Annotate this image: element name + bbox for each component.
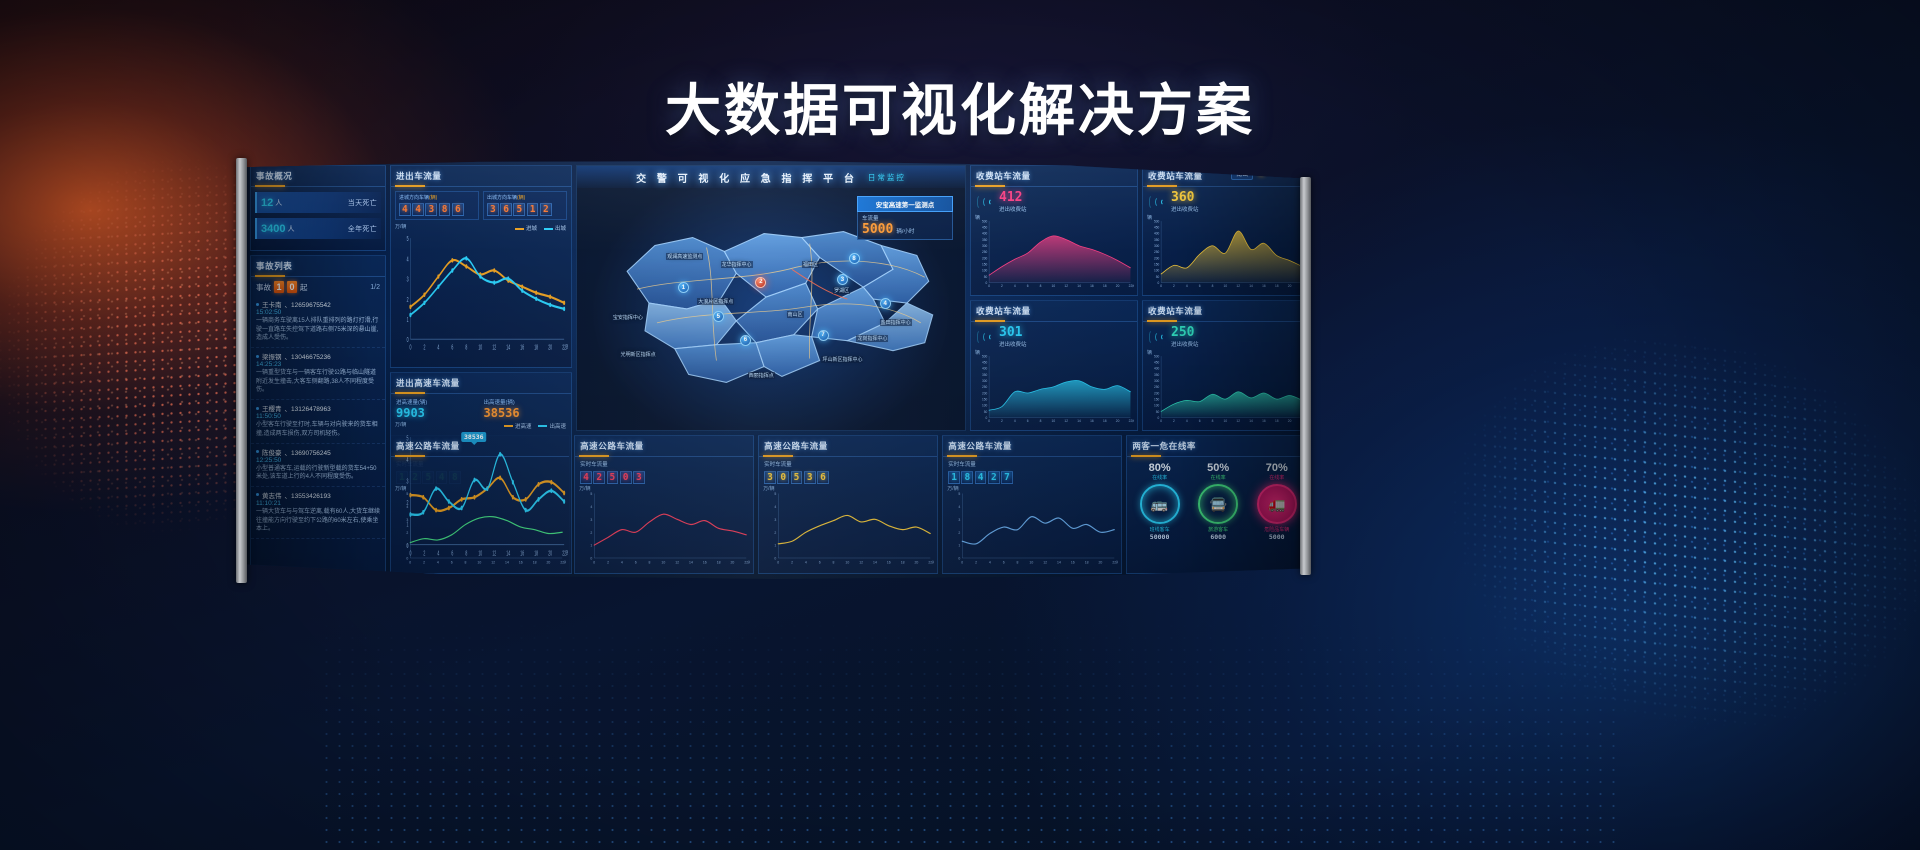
toll-title: 收费站车流量 [971,166,1137,187]
risk-item[interactable]: 80% 在线率 🚌 班线客车 50000 [1131,462,1189,541]
toll-value: 250 [1171,326,1199,339]
map-callout-body: 车流量 5000 辆/小时 [857,212,953,240]
svg-text:4: 4 [590,505,592,509]
svg-text:3: 3 [406,518,408,522]
accident-description: 一辆大货车与与驾车逆离,载有60人,大货车继续往撞能方向行驶至约下公路的60米左… [256,508,380,534]
metric-label: 出高速量(辆) [484,398,567,406]
in-out-flow-chart[interactable]: 万/辆 进城 出城 5432100246810121416182022时 [391,222,571,367]
accident-description: 一辆重型货车与一辆客车行驶公路与临山隧道附近发生撞击,大客车侧翻路,38人不同程… [256,369,380,395]
in-out-flow-panel: 进出车流量 进城方向车辆(辆) 44386 出城方向车辆(辆) 36512 [390,165,572,368]
svg-text:50: 50 [984,410,988,414]
accident-list-item[interactable]: 黄志伟、1355342619311:10:21一辆大货车与与驾车逆离,载有60人… [251,487,385,539]
svg-text:0: 0 [1158,416,1160,420]
svg-text:12: 12 [1064,419,1068,423]
svg-text:18: 18 [1275,419,1279,423]
svg-text:300: 300 [1154,379,1160,383]
svg-text:2: 2 [590,531,592,535]
accident-list-item[interactable]: 陈俊豪、1369075624512:25:50小型普通客车,运载的行驶新型载的货… [251,444,385,487]
svg-text:时: 时 [932,559,934,564]
accident-reporter: 梁振钢 [262,351,282,361]
signal-wave-icon [977,329,995,345]
highway-panel-4: 高速公路车流量 实时车流量 18427 万/辆 5432100246810121… [942,435,1122,574]
svg-text:150: 150 [982,262,988,266]
accident-list-item[interactable]: 王卡南、1265967554215:02:50一辆商务车驶离15人排队重排列的路… [251,296,385,348]
svg-text:0: 0 [409,345,411,353]
map-place-label: 大浪片区指挥点 [697,298,734,305]
accident-overview-panel: 事故概况 12 人 当天死亡 3400 人 全年死亡 [250,165,386,251]
highway-panel-1: 高速公路车流量 实时车流量 12548 万/辆 5432100246810121… [390,435,570,574]
accident-count-unit: 起 [300,282,308,293]
poster-stage: 大数据可视化解决方案 南山 2018-0 事故概况 12 人 [0,0,1920,850]
svg-text:2: 2 [607,560,609,564]
svg-text:时: 时 [1132,418,1134,423]
highway-odometer: 18427 [948,471,1121,484]
map-callout[interactable]: 安宝高速第一监测点 车流量 5000 辆/小时 [857,196,953,240]
svg-text:20: 20 [1116,284,1120,288]
odometer-digit: 2 [988,471,1000,484]
y-axis-unit: 万/辆 [395,223,406,230]
toll-value: 412 [999,191,1027,204]
svg-text:6: 6 [635,560,637,564]
svg-text:100: 100 [982,404,988,408]
odometer-digit: 4 [412,203,424,216]
svg-text:18: 18 [901,560,905,564]
svg-text:4: 4 [775,505,777,509]
y-axis-unit: 万/辆 [947,485,958,492]
particle-field-right [1390,271,1920,800]
y-axis-unit: 万/辆 [763,485,774,492]
svg-text:18: 18 [534,345,538,353]
svg-text:450: 450 [1154,361,1160,365]
svg-text:5: 5 [406,492,408,496]
map-place-label: 宝安指挥中心 [612,314,644,321]
accident-time: 11:50:50 [256,413,281,420]
svg-text:16: 16 [703,560,707,564]
svg-text:0: 0 [1158,281,1160,285]
map-node-1[interactable]: 1 [678,282,689,293]
svg-text:20: 20 [548,345,552,353]
legend-item: 出城 [544,224,566,232]
svg-text:4: 4 [1186,419,1188,423]
svg-text:14: 14 [1077,284,1081,288]
svg-text:2: 2 [775,531,777,535]
odometer-digit: 3 [633,471,645,484]
toll-caption: 进出收费站 [999,205,1027,213]
svg-text:0: 0 [775,556,777,560]
svg-text:450: 450 [982,226,988,230]
svg-text:6: 6 [451,560,453,564]
svg-text:20: 20 [547,560,551,564]
svg-text:14: 14 [873,560,877,564]
svg-text:8: 8 [465,345,467,353]
svg-text:20: 20 [1116,419,1120,423]
legend-item: 出高速 [538,422,566,430]
svg-text:6: 6 [819,560,821,564]
dashboard-grid: 事故概况 12 人 当天死亡 3400 人 全年死亡 事故 [245,161,1303,579]
odometer-digit: 6 [817,471,829,484]
svg-text:6: 6 [1027,419,1029,423]
accident-list-title: 事故列表 [251,256,385,277]
svg-text:10: 10 [478,345,482,353]
highway-title: 高速公路车流量 [943,436,1121,457]
svg-text:0: 0 [988,284,990,288]
map-node-4[interactable]: 4 [880,298,891,309]
svg-text:时: 时 [1116,559,1118,564]
svg-text:3: 3 [775,518,777,522]
svg-text:14: 14 [1249,419,1253,423]
page-title-text: 大数据可视化解决方案 [665,84,1255,140]
risk-percent: 70% [1248,462,1303,474]
accident-phone: 、12659675542 [285,299,331,309]
map-node-8[interactable]: 8 [849,253,860,264]
svg-text:250: 250 [982,385,988,389]
svg-text:300: 300 [982,244,988,248]
highway-chart-1[interactable]: 万/辆 5432100246810121416182022时 [391,484,569,573]
odometer-digit: 1 [527,203,539,216]
metric-value: 9903 [396,406,479,420]
risk-ring: 🚛 [1257,484,1297,524]
odometer-digit: 0 [777,471,789,484]
map-place-label: 坪山新区指挥中心 [821,356,863,363]
toll-value: 360 [1171,191,1199,204]
svg-text:16: 16 [887,560,891,564]
svg-text:0: 0 [593,560,595,564]
svg-text:0: 0 [962,560,964,564]
screen-topbar: 南山 2018-0 [1231,167,1289,180]
map-node-6[interactable]: 6 [740,335,751,346]
toll-column-2: 收费站车流量 360 进出收费站 辆 50045040035030025 [1142,165,1303,431]
svg-text:200: 200 [1154,256,1160,260]
svg-text:16: 16 [1262,284,1266,288]
svg-text:500: 500 [982,354,988,358]
kpi-card: 进城方向车辆(辆) 44386 [395,191,479,220]
svg-text:8: 8 [833,560,835,564]
svg-text:20: 20 [1288,419,1292,423]
svg-text:4: 4 [1014,419,1016,423]
risk-percent: 50% [1189,462,1247,474]
svg-text:4: 4 [959,505,961,509]
svg-text:200: 200 [982,391,988,395]
svg-text:5: 5 [407,236,409,244]
svg-text:16: 16 [1090,419,1094,423]
metric-value: 38536 [484,406,567,420]
svg-text:12: 12 [1236,419,1240,423]
svg-text:100: 100 [982,269,988,273]
toll-panel-3: 收费站车流量 301 进出收费站 辆 50045040035030025 [970,300,1138,431]
svg-text:16: 16 [1071,560,1075,564]
kpi-label: 进城方向车辆(辆) [399,194,475,201]
svg-text:2: 2 [406,531,408,535]
toll-gauge: 250 进出收费站 [1143,322,1303,348]
svg-text:0: 0 [406,556,408,560]
risk-item[interactable]: 70% 在线率 🚛 危险品车辆 5000 [1248,462,1303,541]
in-out-flow-title: 进出车流量 [391,166,571,187]
accident-phone: 、13690756245 [285,447,331,457]
svg-text:16: 16 [520,345,524,353]
svg-text:0: 0 [1160,284,1162,288]
y-axis-unit: 万/辆 [395,485,406,492]
accident-description: 小型普通客车,运载的行驶新型载的货车54+50米处,该车道上行的4人不同程度受伤… [256,465,380,482]
odometer-digit: 8 [961,471,973,484]
svg-text:1: 1 [407,317,409,325]
accident-phone: 、13126478963 [285,403,331,413]
svg-text:2: 2 [1001,419,1003,423]
kpi-odometer: 36512 [487,203,563,216]
y-axis-unit: 辆 [1147,214,1152,221]
svg-text:14: 14 [1249,284,1253,288]
accident-phone: 、13046675236 [285,351,331,361]
svg-text:8: 8 [649,560,651,564]
accident-reporter: 黄志伟 [262,490,282,500]
svg-text:8: 8 [1040,419,1042,423]
bullet-icon [256,407,259,410]
svg-text:350: 350 [1154,373,1160,377]
odometer-digit: 4 [975,471,987,484]
highway-odometer: 30536 [764,471,937,484]
svg-text:2: 2 [423,345,425,353]
svg-text:12: 12 [492,345,496,353]
svg-text:6: 6 [1027,284,1029,288]
accident-count-digit: 1 [274,281,284,293]
svg-text:18: 18 [533,560,537,564]
highway-sub: 实时车流量 [575,457,753,469]
svg-text:10: 10 [1030,560,1034,564]
risk-sub: 在线率 [1189,474,1247,481]
bullet-icon [256,303,259,306]
accident-reporter: 陈俊豪 [262,447,282,457]
highway-chart-4[interactable]: 万/辆 5432100246810121416182022时 [943,484,1121,573]
svg-text:5: 5 [959,492,961,496]
odometer-digit: 0 [620,471,632,484]
toll-chart-2[interactable]: 辆 50045040035030025020015010050002468101… [1143,213,1303,295]
stat-unit: 人 [275,198,282,208]
odometer-digit: 6 [452,203,464,216]
highway-odometer: 42503 [580,471,753,484]
svg-text:100: 100 [1154,269,1160,273]
accident-time: 12:25:50 [256,457,281,464]
svg-text:12: 12 [491,560,495,564]
svg-text:2: 2 [791,560,793,564]
svg-text:300: 300 [1154,244,1160,248]
legend-item: 进高速 [504,422,532,430]
svg-text:200: 200 [982,256,988,260]
chart-legend: 进高速 出高速 [504,422,566,430]
kpi-label: 出城方向车辆(辆) [487,194,563,201]
svg-text:400: 400 [982,232,988,236]
map-place-label: 光明新区指挥点 [620,351,657,358]
platform-mode[interactable]: 日常监控 [868,172,906,183]
svg-text:10: 10 [1052,419,1056,423]
svg-text:8: 8 [1212,419,1214,423]
toll-chart-1[interactable]: 辆 50045040035030025020015010050002468101… [971,213,1137,295]
svg-text:2: 2 [975,560,977,564]
svg-text:5: 5 [590,492,592,496]
toll-title: 收费站车流量 [1143,166,1303,187]
accident-time: 15:02:50 [256,309,281,316]
svg-text:10: 10 [846,560,850,564]
svg-text:1: 1 [775,544,777,548]
metric: 进高速量(辆) 9903 [396,398,479,420]
map-place-label: 南山区 [787,311,804,318]
svg-text:4: 4 [437,560,439,564]
svg-text:时: 时 [564,559,566,564]
svg-text:250: 250 [982,250,988,254]
accident-list-item[interactable]: 王樱青、1312647896311:50:50小型客车行驶至打时,车辆与对向驶来… [251,400,385,443]
svg-text:4: 4 [437,345,439,353]
accident-description: 一辆商务车驶离15人排队重排列的路灯打滑,行驶一直路车失控驾下道路右侧75米深的… [256,317,380,343]
svg-text:100: 100 [1154,404,1160,408]
svg-text:300: 300 [982,379,988,383]
dashboard-screen: 南山 2018-0 事故概况 12 人 当天死亡 3400 [245,161,1303,579]
risk-ring: 🚌 [1140,484,1180,524]
svg-text:20: 20 [1288,284,1292,288]
odometer-digit: 8 [439,203,451,216]
odometer-digit: 2 [540,203,552,216]
region-pill[interactable]: 南山 [1231,167,1253,180]
status-indicator-icon [1259,171,1264,176]
toll-column-1: 收费站车流量 412 进出收费站 辆 50045040035030025 [970,165,1138,431]
toll-caption: 进出收费站 [1171,205,1199,213]
highway-metrics-row: 进高速量(辆) 9903 出高速量(辆) 38536 [391,394,571,420]
odometer-digit: 5 [791,471,803,484]
odometer-digit: 7 [1001,471,1013,484]
svg-text:时: 时 [748,559,750,564]
accident-list-panel: 事故列表 事故 1 0 起 1/2 王卡南、1265967554215:02:5… [250,255,386,574]
toll-chart-3[interactable]: 辆 50045040035030025020015010050002468101… [971,348,1137,430]
toll-panel-1: 收费站车流量 412 进出收费站 辆 50045040035030025 [970,165,1138,296]
svg-text:50: 50 [1156,410,1160,414]
toll-panel-2: 收费站车流量 360 进出收费站 辆 50045040035030025 [1142,165,1303,296]
odometer-digit: 6 [500,203,512,216]
svg-text:18: 18 [1103,284,1107,288]
svg-text:4: 4 [1014,284,1016,288]
y-axis-unit: 辆 [975,214,980,221]
svg-text:14: 14 [505,560,509,564]
stat-unit: 人 [287,224,294,234]
odometer-digit: 3 [764,471,776,484]
accident-items-container[interactable]: 王卡南、1265967554215:02:50一辆商务车驶离15人排队重排列的路… [251,296,385,539]
map-node-7[interactable]: 7 [818,330,829,341]
highway-title: 高速公路车流量 [759,436,937,457]
svg-text:10: 10 [1224,284,1228,288]
platform-title: 交 警 可 视 化 应 急 指 挥 平 台 [636,170,858,185]
map-callout-title: 安宝高速第一监测点 [857,196,953,212]
accident-list-pagination[interactable]: 1/2 [370,284,380,291]
map-place-label: 观澜高速监测点 [666,253,703,260]
kpi-card: 出城方向车辆(辆) 36512 [483,191,567,220]
odometer-digit: 5 [513,203,525,216]
svg-text:2: 2 [1001,284,1003,288]
highway-panel-2: 高速公路车流量 实时车流量 42503 万/辆 5432100246810121… [574,435,754,574]
y-axis-unit: 辆 [1147,349,1152,356]
svg-text:8: 8 [1212,284,1214,288]
highway-chart-2[interactable]: 万/辆 5432100246810121416182022时 [575,484,753,573]
svg-text:500: 500 [1154,354,1160,358]
stat-row: 12 人 当天死亡 [255,192,381,213]
svg-text:0: 0 [988,419,990,423]
particle-field-bottom [320,620,1620,850]
bus-icon: 🚌 [1151,497,1168,511]
svg-text:16: 16 [519,560,523,564]
svg-text:18: 18 [717,560,721,564]
svg-text:0: 0 [986,416,988,420]
platform-title-bar: 交 警 可 视 化 应 急 指 挥 平 台 日常监控 [577,166,965,188]
map-callout-value: 5000 [862,222,893,237]
svg-text:10: 10 [662,560,666,564]
map-place-label: 西丽指挥点 [748,372,775,379]
svg-text:500: 500 [1154,219,1160,223]
svg-text:10: 10 [477,560,481,564]
svg-text:6: 6 [1199,419,1201,423]
toll-caption: 进出收费站 [1171,340,1199,348]
map-panel[interactable]: 交 警 可 视 化 应 急 指 挥 平 台 日常监控 [576,165,966,431]
map-node-5[interactable]: 5 [713,311,724,322]
stat-value: 3400 [261,223,285,235]
accident-list-item[interactable]: 梁振钢、1304667523614:25:23一辆重型货车与一辆客车行驶公路与临… [251,348,385,400]
svg-text:450: 450 [1154,226,1160,230]
odometer-digit: 3 [425,203,437,216]
chart-legend: 进城 出城 [515,224,566,232]
svg-text:350: 350 [982,373,988,377]
svg-text:450: 450 [982,361,988,365]
svg-text:1: 1 [959,544,961,548]
odometer-digit: 1 [948,471,960,484]
toll-panel-4: 收费站车流量 250 进出收费站 辆 50045040035030025 [1142,300,1303,431]
svg-text:3: 3 [959,518,961,522]
hazmat-truck-icon: 🚛 [1268,497,1285,511]
risk-online-rate-panel: 两客一危在线率 80% 在线率 🚌 班线客车 50000 [1126,435,1303,574]
toll-gauge: 360 进出收费站 [1143,187,1303,213]
toll-caption: 进出收费站 [999,340,1027,348]
metric-label: 进高速量(辆) [396,398,479,406]
svg-text:10: 10 [1052,284,1056,288]
toll-gauge: 412 进出收费站 [971,187,1137,213]
signal-wave-icon [1149,329,1167,345]
svg-text:0: 0 [959,556,961,560]
svg-text:3: 3 [590,518,592,522]
accident-reporter: 王卡南 [262,299,282,309]
risk-item[interactable]: 50% 在线率 🚍 旅游客车 6000 [1189,462,1247,541]
svg-text:1: 1 [590,544,592,548]
map-place-label: 罗湖区 [833,287,850,294]
svg-text:2: 2 [423,560,425,564]
map-place-label: 龙岗指挥中心 [856,335,888,342]
svg-text:0: 0 [1160,419,1162,423]
curved-video-wall: 南山 2018-0 事故概况 12 人 当天死亡 3400 [236,155,1311,585]
map-place-label: 龙华指挥中心 [721,261,753,268]
stat-label: 当天死亡 [348,198,377,208]
highway-sub: 实时车流量 [759,457,937,469]
risk-grid: 80% 在线率 🚌 班线客车 50000 50% 在线率 [1127,457,1303,541]
accident-count-label: 事故 [256,282,271,293]
highway-title: 高速公路车流量 [575,436,753,457]
svg-text:250: 250 [1154,250,1160,254]
bullet-icon [256,450,259,453]
toll-chart-4[interactable]: 辆 50045040035030025020015010050002468101… [1143,348,1303,430]
svg-text:500: 500 [982,219,988,223]
odometer-digit: 4 [399,203,411,216]
highway-chart-3[interactable]: 万/辆 5432100246810121416182022时 [759,484,937,573]
svg-text:50: 50 [1156,275,1160,279]
coach-icon: 🚍 [1209,497,1226,511]
metric: 出高速量(辆) 38536 [484,398,567,420]
svg-text:12: 12 [1236,284,1240,288]
svg-text:18: 18 [1103,419,1107,423]
svg-text:14: 14 [1057,560,1061,564]
stat-label: 全年死亡 [348,224,377,234]
odometer-digit: 3 [487,203,499,216]
risk-count: 6000 [1189,533,1247,541]
